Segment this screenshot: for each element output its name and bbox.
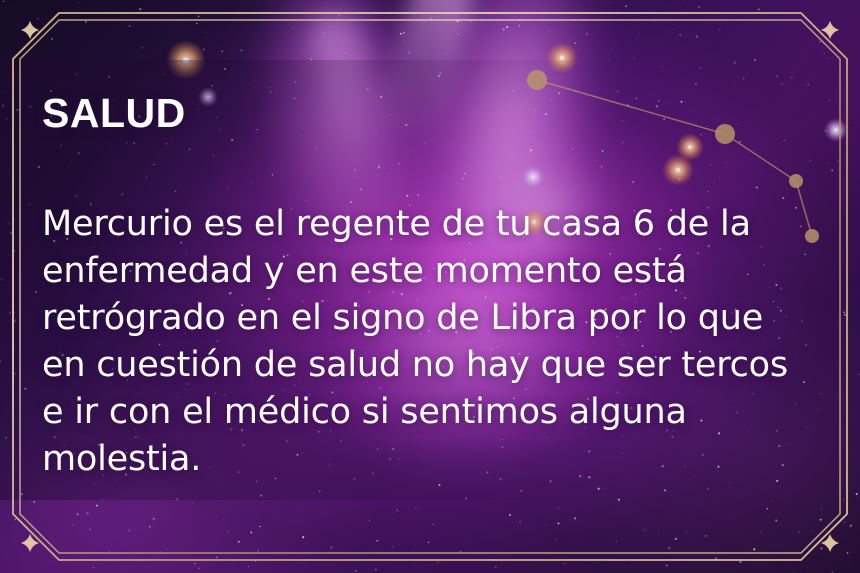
card-body-line: e ir con el médico si sentimos alguna [42,392,687,432]
page-title: SALUD [42,92,832,135]
card-body-line: en cuestión de salud no hay que ser terc… [42,345,788,385]
card-content: SALUD Mercurio es el regente de tu casa … [42,92,832,483]
horoscope-card: SALUD Mercurio es el regente de tu casa … [0,0,860,573]
card-body-line: Mercurio es el regente de tu casa 6 de l… [42,204,751,244]
card-body-line: molestia. [42,439,201,479]
card-body-text: Mercurio es el regente de tu casa 6 de l… [42,135,822,483]
card-body-line: retrógrado en el signo de Libra por lo q… [42,298,763,338]
card-body-line: enfermedad y en este momento está [42,251,687,291]
